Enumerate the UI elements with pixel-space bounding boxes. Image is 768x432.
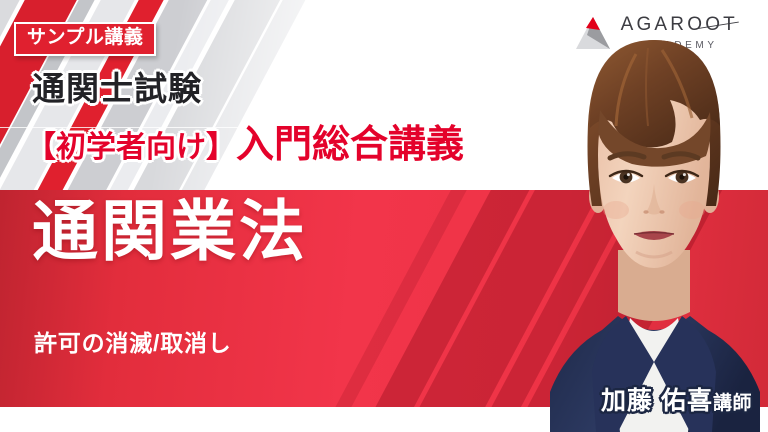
instructor-portrait-photo (540, 0, 768, 432)
course-name-prefix: 【初学者向け】 (26, 131, 236, 164)
exam-name-heading: 通関士試験 (32, 72, 202, 105)
instructor-name: 加藤 佑喜講師 (601, 389, 752, 414)
instructor-name-text: 加藤 佑喜 (601, 387, 713, 415)
sample-lecture-badge: サンプル講義 (14, 22, 156, 56)
lesson-subtitle: 許可の消滅/取消し (34, 332, 232, 355)
lecture-thumbnail: サンプル講義 通関士試験 【初学者向け】入門総合講義 通関業法 許可の消滅/取消… (0, 0, 768, 432)
subject-title: 通関業法 (32, 198, 308, 264)
course-name-main: 入門総合講義 (236, 124, 464, 166)
instructor-title-text: 講師 (713, 393, 752, 414)
stripe-red-2 (0, 0, 4, 215)
course-name-heading: 【初学者向け】入門総合講義 (26, 126, 464, 164)
